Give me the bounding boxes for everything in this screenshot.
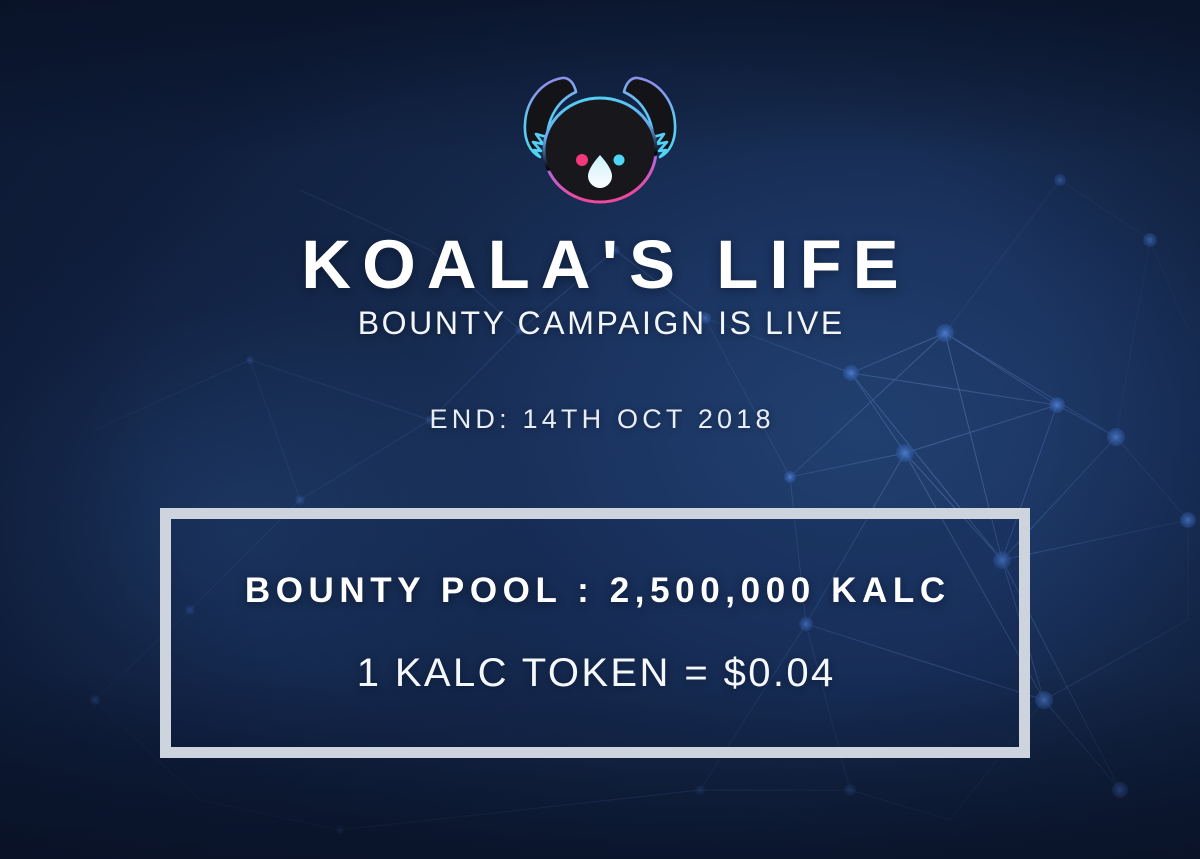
- bounty-pool-box: BOUNTY POOL : 2,500,000 KALC 1 KALC TOKE…: [160, 508, 1030, 758]
- koala-eye-left: [576, 154, 588, 166]
- bounty-pool-amount: BOUNTY POOL : 2,500,000 KALC: [239, 571, 951, 611]
- page-subtitle: BOUNTY CAMPAIGN IS LIVE: [355, 306, 845, 341]
- bounty-campaign-banner: KOALA'S LIFE BOUNTY CAMPAIGN IS LIVE END…: [0, 0, 1200, 859]
- token-price: 1 KALC TOKEN = $0.04: [354, 651, 835, 696]
- koala-eye-right: [614, 155, 625, 166]
- campaign-end-date: END: 14TH OCT 2018: [425, 404, 774, 435]
- page-title: KOALA'S LIFE: [290, 230, 909, 300]
- koala-logo: [500, 56, 700, 216]
